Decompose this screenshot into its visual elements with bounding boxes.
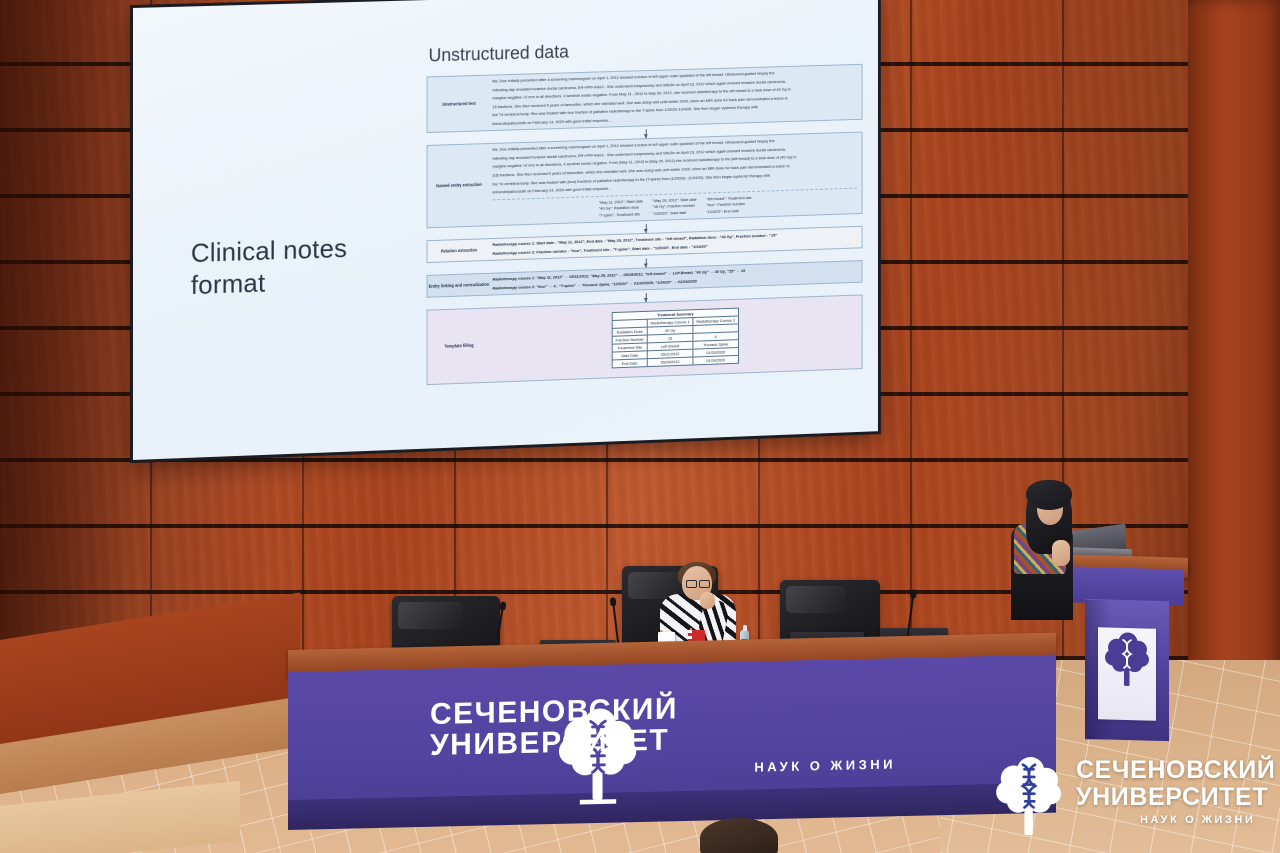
row-label-relation-extraction: Relation extraction bbox=[428, 240, 491, 263]
watermark-line-3: НАУК О ЖИЗНИ bbox=[1140, 814, 1255, 826]
entity-item: "T-spine": Treatment site bbox=[599, 211, 643, 219]
projection-screen: Clinical notes format Unstructured data … bbox=[133, 0, 878, 460]
watermark-logo: СЕЧЕНОВСКИЙ УНИВЕРСИТЕТ НАУК О ЖИЗНИ bbox=[990, 752, 1272, 844]
desk-branding: СЕЧЕНОВСКИЙ УНИВЕРСИТЕТ НАУК О ЖИЗНИ bbox=[430, 689, 930, 782]
entity-list: "May 11, 2012": Start date "40 Gy": Radi… bbox=[492, 191, 856, 223]
entity-column: "left breast": Treatment site "four": Fr… bbox=[706, 195, 751, 216]
seated-panelist-hand bbox=[700, 592, 715, 609]
row-content-unstructured-text: Ms. Doe initially presented after a scre… bbox=[490, 65, 861, 131]
treatment-summary-table: Treatment Summary Radiotherapy Course 1 … bbox=[612, 308, 739, 369]
slide-heading: Unstructured data bbox=[429, 33, 863, 66]
row-content-named-entity-extraction: Ms. Doe initially presented after a scre… bbox=[490, 133, 861, 226]
entity-item: "1/24/20": End date bbox=[706, 208, 751, 216]
table-cell: End Date bbox=[612, 359, 647, 368]
slide-side-title: Clinical notes format bbox=[191, 231, 419, 302]
table-cell: 05/29/2012 bbox=[647, 357, 693, 367]
entity-item: "1/20/20": Start date bbox=[653, 209, 697, 217]
wall-pillar-right bbox=[1188, 0, 1280, 700]
presentation-slide: Clinical notes format Unstructured data … bbox=[133, 0, 878, 460]
pipeline-row-named-entity-extraction: Named entity extraction Ms. Doe initiall… bbox=[427, 132, 863, 229]
audience-member-head bbox=[700, 818, 778, 853]
table-cell: 01/24/2020 bbox=[693, 356, 739, 366]
slide-pipeline-panel: Unstructured data Unstructured text Ms. … bbox=[427, 33, 863, 388]
row-content-template-filling: Treatment Summary Radiotherapy Course 1 … bbox=[490, 296, 861, 382]
pipeline-row-unstructured-text: Unstructured text Ms. Doe initially pres… bbox=[427, 64, 863, 134]
row-label-named-entity-extraction: Named entity extraction bbox=[428, 144, 491, 228]
speaker-arm bbox=[1052, 540, 1070, 566]
row-label-unstructured-text: Unstructured text bbox=[428, 76, 491, 133]
eyeglasses-icon bbox=[686, 580, 710, 586]
watermark-line-2: УНИВЕРСИТЕТ bbox=[1076, 785, 1268, 811]
row-label-entity-linking: Entity linking and normalization bbox=[428, 274, 491, 297]
podium-tree-logo-icon bbox=[1098, 627, 1156, 699]
row-label-template-filling: Template filling bbox=[428, 309, 491, 385]
entity-column: "May 11, 2012": Start date "40 Gy": Radi… bbox=[599, 198, 643, 219]
pipeline-row-template-filling: Template filling Treatment Summary Radio… bbox=[427, 295, 863, 386]
conference-hall-scene: Clinical notes format Unstructured data … bbox=[0, 0, 1280, 853]
speaker-hijab-front bbox=[1026, 480, 1072, 510]
watermark-tree-logo-icon bbox=[990, 754, 1068, 838]
podium-logo-plate bbox=[1098, 627, 1156, 721]
watermark-line-1: СЕЧЕНОВСКИЙ bbox=[1076, 758, 1275, 784]
entity-column: "May 29, 2012": Start date "15 Gy": Frac… bbox=[653, 196, 697, 217]
wall-left-shadow bbox=[0, 0, 130, 700]
